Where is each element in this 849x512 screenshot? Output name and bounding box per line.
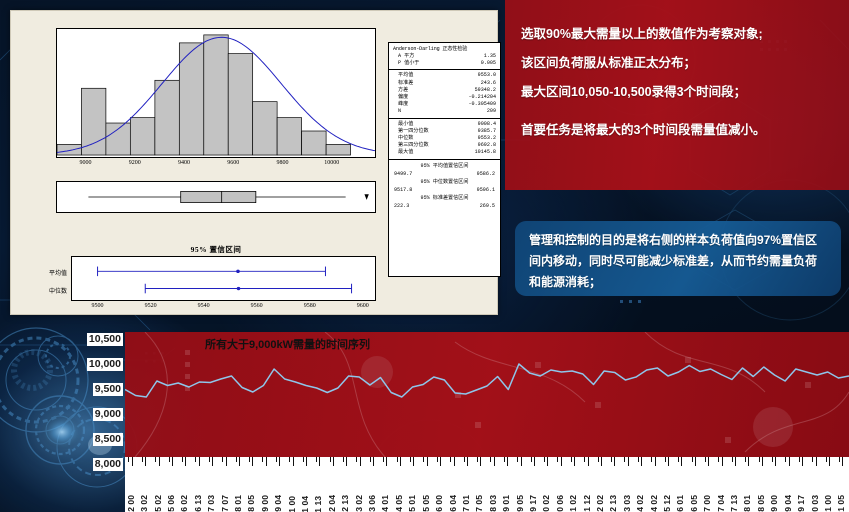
x-axis-minor-tick (745, 457, 746, 462)
x-axis-tick-mark (185, 457, 186, 466)
x-axis-tick-mark (212, 457, 213, 466)
x-axis-tick-label: 27 04 (718, 495, 724, 512)
x-axis-tick-label: 20 02 (543, 495, 549, 512)
red-callout-box: 选取90%最大需量以上的数值作为考察对象; 该区间负荷服从标准正太分布； 最大区… (505, 0, 849, 190)
x-axis-minor-tick (423, 457, 424, 462)
x-axis-minor-tick (397, 457, 398, 462)
stats-value: 209 (487, 108, 496, 115)
x-axis-tick-mark (373, 457, 374, 466)
x-axis-tick-label: 05 06 (168, 495, 174, 512)
x-axis-minor-tick (437, 457, 438, 462)
x-axis-minor-tick (316, 457, 317, 462)
x-axis-tick-mark (708, 457, 709, 466)
x-axis-tick-mark (588, 457, 589, 466)
axis-tick-label: 9800 (276, 160, 288, 166)
stats-row: 标准差243.6 (393, 80, 496, 87)
x-axis-tick-mark (561, 457, 562, 466)
x-axis-tick-label: 15 01 (409, 495, 415, 512)
x-axis-minor-tick (410, 457, 411, 462)
x-axis-tick-label: 19 17 (530, 495, 536, 512)
axis-tick-label: 9520 (145, 303, 157, 309)
x-axis-tick-mark (427, 457, 428, 466)
x-axis-tick-label: 08 01 (235, 495, 241, 512)
x-axis-tick-label: 07 03 (208, 495, 214, 512)
stats-group-moments: 平均值9553.0标准差243.6方差59348.2偏度-0.214204峰度-… (389, 69, 500, 117)
minitab-graphical-summary-card: 9000920094009600980010000 95% 置信区间 95009… (10, 10, 498, 315)
stats-value: 9385.7 (478, 128, 496, 135)
x-axis-tick-label: 27 13 (731, 495, 737, 512)
axis-tick-label: 9600 (227, 160, 239, 166)
x-axis-minor-tick (665, 457, 666, 462)
x-axis-tick-label: 11 00 (289, 496, 295, 512)
y-axis-tick-label: 10,000 (87, 358, 123, 371)
histogram-chart (57, 29, 375, 157)
x-axis-tick-mark (226, 457, 227, 466)
stats-row: 第一四分位数9385.7 (393, 128, 496, 135)
x-axis-minor-tick (182, 457, 183, 462)
x-axis-tick-label: 15 05 (423, 495, 429, 512)
stats-key: 方差 (393, 87, 408, 94)
stats-row: 峰度-0.305409 (393, 101, 496, 108)
ci-row-label: 中位数 (19, 286, 67, 295)
x-axis-minor-tick (222, 457, 223, 462)
red-callout-line-2: 该区间负荷服从标准正太分布； (521, 49, 835, 78)
y-axis-tick-label: 10,500 (87, 333, 123, 346)
x-axis-tick-mark (252, 457, 253, 466)
x-axis-minor-tick (557, 457, 558, 462)
x-axis-tick-mark (333, 457, 334, 466)
x-axis-tick-mark (641, 457, 642, 466)
x-axis-tick-label: 18 03 (490, 495, 496, 512)
stats-value: 9692.8 (478, 142, 496, 149)
x-axis-tick-mark (400, 457, 401, 466)
x-axis-minor-tick (812, 457, 813, 462)
x-axis-tick-mark (386, 457, 387, 466)
timeseries-section: 10,50010,0009,5009,0008,5008,000 (0, 322, 849, 512)
x-axis-minor-tick (799, 457, 800, 462)
x-axis-tick-mark (547, 457, 548, 466)
stats-row: 最小值9008.4 (393, 121, 496, 128)
x-axis-tick-label: 29 04 (785, 495, 791, 512)
x-axis-tick-mark (172, 457, 173, 466)
x-axis-minor-tick (785, 457, 786, 462)
x-axis-tick-mark (816, 457, 817, 466)
x-axis-tick-mark (319, 457, 320, 466)
axis-tick-label: 10000 (324, 160, 339, 166)
stats-value: 243.6 (481, 80, 496, 87)
ci-block-values: 9517.89596.1 (393, 186, 496, 194)
ci-block-values: 9499.79586.2 (393, 170, 496, 178)
x-axis-minor-tick (772, 457, 773, 462)
x-axis-tick-label: 08 05 (248, 495, 254, 512)
ci-block-title: 95% 中位数置信区间 (393, 178, 496, 186)
x-axis-minor-tick (477, 457, 478, 462)
stats-key: 第一四分位数 (393, 128, 429, 135)
x-axis-minor-tick (651, 457, 652, 462)
x-axis-minor-tick (732, 457, 733, 462)
ci-block-title: 95% 标准差置信区间 (393, 194, 496, 202)
x-axis-tick-label: 02 00 (128, 495, 134, 512)
x-axis-tick-mark (775, 457, 776, 466)
stats-row: 偏度-0.214204 (393, 94, 496, 101)
axis-tick-label: 9560 (251, 303, 263, 309)
x-axis-tick-mark (467, 457, 468, 466)
x-axis-tick-label: 25 12 (664, 495, 670, 512)
x-axis-minor-tick (169, 457, 170, 462)
x-axis-tick-mark (132, 457, 133, 466)
red-callout-line-4: 首要任务是将最大的3个时间段需量值减小。 (521, 116, 835, 145)
histogram-panel (56, 28, 376, 158)
x-axis-tick-label: 17 05 (476, 495, 482, 512)
x-axis-minor-tick (584, 457, 585, 462)
x-axis-tick-label: 11 04 (302, 496, 308, 512)
x-axis-tick-mark (842, 457, 843, 466)
x-axis-minor-tick (262, 457, 263, 462)
x-axis-minor-tick (236, 457, 237, 462)
x-axis-minor-tick (209, 457, 210, 462)
stats-key: 峰度 (393, 101, 408, 108)
x-axis-tick-label: 09 00 (262, 495, 268, 512)
stats-row: 平均值9553.0 (393, 72, 496, 79)
ci-chart (72, 257, 375, 300)
ci-block-values: 222.3269.5 (393, 202, 496, 210)
x-axis-tick-mark (266, 457, 267, 466)
x-axis-tick-mark (413, 457, 414, 466)
y-axis-tick-label: 9,000 (93, 408, 123, 421)
x-axis-tick-mark (159, 457, 160, 466)
x-axis-minor-tick (517, 457, 518, 462)
x-axis-minor-tick (330, 457, 331, 462)
stats-row: N209 (393, 108, 496, 115)
x-axis-minor-tick (611, 457, 612, 462)
x-axis-tick-label: 22 02 (597, 495, 603, 512)
ci-lower: 222.3 (394, 202, 409, 210)
x-axis-tick-mark (145, 457, 146, 466)
x-axis-tick-label: 29 17 (798, 495, 804, 512)
x-axis-minor-tick (598, 457, 599, 462)
x-axis-minor-tick (678, 457, 679, 462)
timeseries-title: 所有大于9,000kW需量的时间序列 (205, 336, 370, 352)
stats-value: 59348.2 (475, 87, 496, 94)
x-axis-minor-tick (142, 457, 143, 462)
x-axis-tick-mark (748, 457, 749, 466)
x-axis-tick-label: 13 06 (369, 495, 375, 512)
stats-key: P 值小于 (393, 60, 419, 67)
stats-key: 最小值 (393, 121, 413, 128)
x-axis-minor-tick (544, 457, 545, 462)
x-axis-minor-tick (692, 457, 693, 462)
ci-chart-title: 95% 置信区间 (56, 244, 376, 255)
stats-value: 9553.2 (478, 135, 496, 142)
x-axis-tick-label: 17 01 (463, 495, 469, 512)
x-axis-tick-label: 11 13 (315, 496, 321, 512)
stats-value: -0.214204 (468, 94, 496, 101)
x-axis-tick-label: 16 00 (436, 495, 442, 512)
stats-group-anderson-darling: Anderson-Darling 正态性检验 A 平方 1.35 P 值小于 0… (389, 43, 500, 69)
x-axis-tick-mark (494, 457, 495, 466)
red-callout-line-1: 选取90%最大需量以上的数值作为考察对象; (521, 20, 835, 49)
x-axis-tick-label: 31 05 (838, 495, 844, 512)
x-axis-minor-tick (356, 457, 357, 462)
x-axis-tick-label: 09 04 (275, 495, 281, 512)
x-axis-tick-mark (346, 457, 347, 466)
boxplot-panel (56, 181, 376, 213)
ci-lower: 9499.7 (394, 170, 412, 178)
x-axis-tick-mark (521, 457, 522, 466)
x-axis-minor-tick (303, 457, 304, 462)
ci-upper: 9586.2 (477, 170, 495, 178)
x-axis-tick-label: 22 13 (610, 495, 616, 512)
ci-upper: 269.5 (480, 202, 495, 210)
x-axis-tick-label: 03 02 (141, 495, 147, 512)
x-axis-tick-label: 28 05 (758, 495, 764, 512)
x-axis-tick-label: 05 02 (155, 495, 161, 512)
x-axis-tick-label: 14 05 (396, 495, 402, 512)
x-axis-tick-label: 06 02 (181, 495, 187, 512)
x-axis-tick-mark (695, 457, 696, 466)
x-axis-tick-mark (655, 457, 656, 466)
ci-row-label: 平均值 (19, 268, 67, 277)
x-axis-tick-label: 19 01 (503, 495, 509, 512)
x-axis-tick-mark (454, 457, 455, 466)
x-axis-tick-label: 29 00 (771, 495, 777, 512)
x-axis-minor-tick (531, 457, 532, 462)
x-axis-tick-label: 16 04 (450, 495, 456, 512)
y-axis-tick-label: 8,500 (93, 433, 123, 446)
stats-value: 10145.8 (475, 149, 496, 156)
axis-tick-label: 9580 (304, 303, 316, 309)
boxplot-chart (57, 182, 375, 212)
x-axis-tick-label: 21 12 (584, 495, 590, 512)
x-axis-minor-tick (450, 457, 451, 462)
x-axis-tick-mark (199, 457, 200, 466)
x-axis-minor-tick (370, 457, 371, 462)
x-axis-tick-mark (762, 457, 763, 466)
axis-tick-label: 9400 (178, 160, 190, 166)
axis-tick-label: 9200 (129, 160, 141, 166)
blue-callout-box: 管理和控制的目的是将右侧的样本负荷值向97%置信区间内移动，同时尽可能减少标准差… (515, 221, 841, 296)
x-axis-tick-label: 31 00 (825, 495, 831, 512)
x-axis-tick-mark (628, 457, 629, 466)
x-axis-tick-label: 13 02 (356, 495, 362, 512)
histogram-x-axis: 9000920094009600980010000 (56, 159, 376, 175)
x-axis-tick-label: 26 01 (677, 495, 683, 512)
x-axis-tick-mark (601, 457, 602, 466)
x-axis-tick-label: 28 01 (744, 495, 750, 512)
ci-chart-x-axis: 950095209540956095809600 (71, 302, 376, 316)
x-axis-tick-mark (681, 457, 682, 466)
axis-tick-label: 9500 (92, 303, 104, 309)
stats-row: P 值小于 0.005 (393, 60, 496, 67)
x-axis-tick-mark (722, 457, 723, 466)
blue-callout-text: 管理和控制的目的是将右侧的样本负荷值向97%置信区间内移动，同时尽可能减少标准差… (529, 230, 827, 293)
stats-value: 9008.4 (478, 121, 496, 128)
x-axis-tick-mark (789, 457, 790, 466)
x-axis-tick-mark (574, 457, 575, 466)
y-axis-tick-label: 8,000 (93, 458, 123, 471)
statistics-table: Anderson-Darling 正态性检验 A 平方 1.35 P 值小于 0… (388, 42, 501, 277)
x-axis-tick-mark (668, 457, 669, 466)
x-axis-minor-tick (571, 457, 572, 462)
stats-row: 方差59348.2 (393, 87, 496, 94)
x-axis-minor-tick (624, 457, 625, 462)
x-axis-tick-label: 27 00 (704, 495, 710, 512)
x-axis-minor-tick (289, 457, 290, 462)
x-axis-minor-tick (343, 457, 344, 462)
x-axis-tick-mark (480, 457, 481, 466)
stats-group-quartiles: 最小值9008.4第一四分位数9385.7中位数9553.2第三四分位数9692… (389, 118, 500, 159)
x-axis-tick-mark (306, 457, 307, 466)
x-axis-tick-label: 20 06 (557, 495, 563, 512)
stats-row: 最大值10145.8 (393, 149, 496, 156)
x-axis-minor-tick (718, 457, 719, 462)
ci-chart-panel (71, 256, 376, 301)
x-axis-tick-mark (534, 457, 535, 466)
x-axis-minor-tick (705, 457, 706, 462)
timeseries-x-axis: 02 0003 0205 0205 0606 0206 1307 0307 07… (125, 457, 849, 512)
x-axis-tick-label: 30 03 (812, 495, 818, 512)
stats-key: N (393, 108, 401, 115)
x-axis-tick-mark (507, 457, 508, 466)
x-axis-minor-tick (638, 457, 639, 462)
y-axis-tick-label: 9,500 (93, 383, 123, 396)
x-axis-tick-label: 24 02 (651, 495, 657, 512)
x-axis-tick-label: 12 04 (329, 495, 335, 512)
x-axis-tick-mark (829, 457, 830, 466)
x-axis-tick-label: 24 02 (637, 495, 643, 512)
x-axis-minor-tick (759, 457, 760, 462)
axis-tick-label: 9000 (80, 160, 92, 166)
stats-value: -0.305409 (468, 101, 496, 108)
stats-key: 最大值 (393, 149, 413, 156)
x-axis-tick-mark (440, 457, 441, 466)
x-axis-minor-tick (195, 457, 196, 462)
x-axis-tick-mark (802, 457, 803, 466)
x-axis-minor-tick (249, 457, 250, 462)
x-axis-tick-label: 12 13 (342, 495, 348, 512)
x-axis-tick-label: 19 05 (517, 495, 523, 512)
x-axis-tick-mark (735, 457, 736, 466)
x-axis-tick-label: 07 07 (222, 495, 228, 512)
x-axis-minor-tick (490, 457, 491, 462)
red-callout-line-3: 最大区间10,050-10,500录得3个时间段； (521, 78, 835, 107)
x-axis-minor-tick (128, 457, 129, 462)
x-axis-tick-mark (614, 457, 615, 466)
x-axis-tick-label: 06 13 (195, 495, 201, 512)
stats-group-confidence-intervals: 95% 平均值置信区间9499.79586.295% 中位数置信区间9517.8… (389, 159, 500, 212)
x-axis-minor-tick (276, 457, 277, 462)
x-axis-tick-mark (279, 457, 280, 466)
x-axis-tick-mark (293, 457, 294, 466)
stats-value: 0.005 (481, 60, 496, 67)
stats-value: 9553.0 (478, 72, 496, 79)
x-axis-tick-label: 26 05 (691, 495, 697, 512)
x-axis-tick-mark (239, 457, 240, 466)
x-axis-tick-mark (360, 457, 361, 466)
x-axis-minor-tick (464, 457, 465, 462)
x-axis-minor-tick (826, 457, 827, 462)
ci-upper: 9596.1 (477, 186, 495, 194)
x-axis-minor-tick (155, 457, 156, 462)
ci-lower: 9517.8 (394, 186, 412, 194)
x-axis-tick-label: 14 01 (382, 495, 388, 512)
stats-key: 平均值 (393, 72, 413, 79)
axis-tick-label: 9600 (357, 303, 369, 309)
axis-tick-label: 9540 (198, 303, 210, 309)
anderson-darling-title: Anderson-Darling 正态性检验 (393, 45, 496, 52)
x-axis-minor-tick (504, 457, 505, 462)
x-axis-tick-label: 21 02 (570, 495, 576, 512)
x-axis-minor-tick (839, 457, 840, 462)
stats-value: 1.35 (484, 53, 496, 60)
x-axis-tick-label: 23 03 (624, 495, 630, 512)
ci-block-title: 95% 平均值置信区间 (393, 162, 496, 170)
stats-key: 标准差 (393, 80, 413, 87)
x-axis-minor-tick (383, 457, 384, 462)
